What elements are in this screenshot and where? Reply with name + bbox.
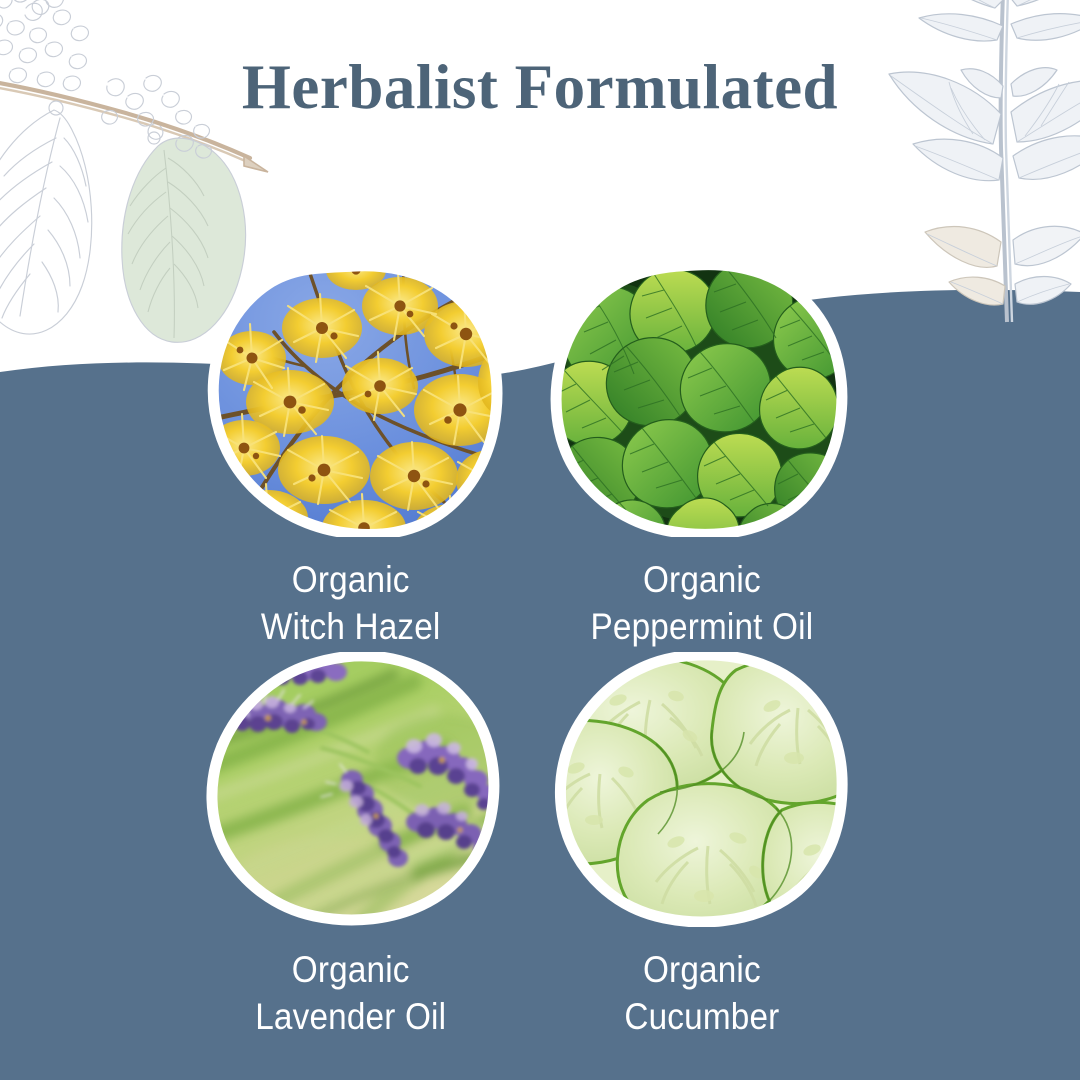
witch-hazel-image-wrap <box>204 262 504 537</box>
cucumber-image-wrap <box>550 652 850 927</box>
ingredient-label-line2: Witch Hazel <box>200 604 501 651</box>
ingredient-card-lavender-oil[interactable]: Organic Lavender Oil <box>178 652 518 1041</box>
ingredient-label-line1: Organic <box>292 559 410 600</box>
ingredient-label-line2: Peppermint Oil <box>559 604 845 651</box>
peppermint-image-wrap <box>550 262 850 537</box>
ingredient-label-lavender-oil: Organic Lavender Oil <box>195 947 501 1041</box>
ingredient-label-cucumber: Organic Cucumber <box>539 947 845 1041</box>
peppermint-leaves-photo <box>550 262 850 537</box>
ingredient-card-peppermint-oil[interactable]: Organic Peppermint Oil <box>522 262 862 651</box>
ingredient-label-line1: Organic <box>292 949 410 990</box>
ingredient-label-line1: Organic <box>643 949 761 990</box>
cucumber-slices-photo <box>550 652 850 927</box>
witch-hazel-flowers-photo <box>204 262 504 537</box>
poster-canvas: Herbalist Formulated <box>0 0 1080 1080</box>
ingredient-label-peppermint-oil: Organic Peppermint Oil <box>539 557 845 651</box>
ingredient-label-line2: Cucumber <box>559 994 845 1041</box>
ingredient-label-line1: Organic <box>643 559 761 600</box>
ingredient-grid: Organic Witch Hazel <box>0 0 1080 1080</box>
lavender-image-wrap <box>204 652 504 927</box>
ingredient-card-cucumber[interactable]: Organic Cucumber <box>522 652 862 1041</box>
ingredient-label-witch-hazel: Organic Witch Hazel <box>195 557 501 651</box>
ingredient-card-witch-hazel[interactable]: Organic Witch Hazel <box>178 262 518 651</box>
lavender-flowers-photo <box>204 652 504 927</box>
ingredient-label-line2: Lavender Oil <box>200 994 501 1041</box>
